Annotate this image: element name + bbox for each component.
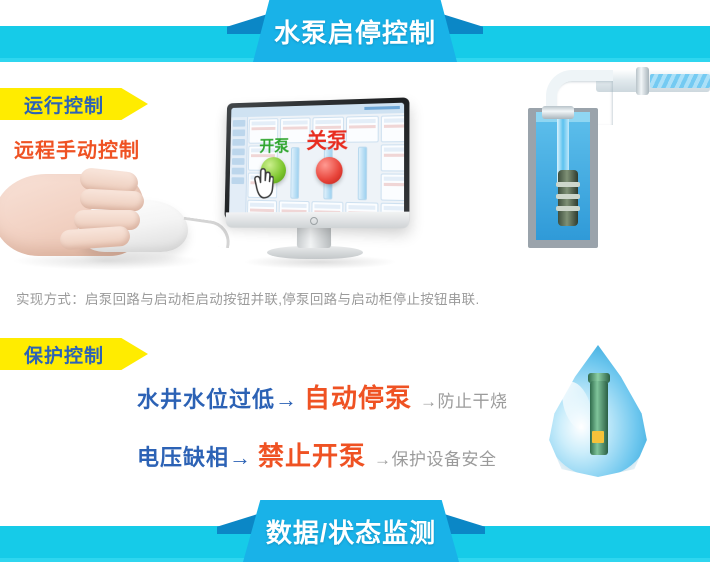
hand-cursor-icon [249, 167, 274, 200]
well-pump-illustration [500, 62, 710, 277]
rule-condition: 水井水位过低→ [137, 382, 298, 414]
scada-sidebar-item [233, 129, 246, 136]
finger-2 [80, 188, 145, 211]
pump-band [556, 182, 580, 187]
bottom-banner-title: 数据/状态监测 [266, 513, 436, 550]
rule-result: →保护设备安全 [374, 445, 497, 470]
monitor-screen[interactable]: 开泵 关泵 [229, 103, 404, 220]
top-banner-title: 水泵启停控制 [274, 13, 436, 50]
scada-pipe [290, 147, 299, 199]
droplet-pump-label [592, 431, 604, 443]
scada-sidebar [229, 117, 248, 215]
rule-action: 禁止开泵 [258, 436, 366, 473]
run-control-tag-label: 运行控制 [24, 91, 104, 118]
protection-control-tag: 保护控制 [0, 338, 148, 370]
rule-condition: 电压缺相→ [137, 440, 252, 472]
remote-manual-control-label: 远程手动控制 [14, 134, 140, 163]
droplet-pump-body [590, 381, 608, 455]
protection-control-tag-label: 保护控制 [24, 341, 104, 368]
monitor-illustration: 开泵 关泵 [205, 100, 420, 275]
pipe-flange-wellhead [542, 106, 574, 119]
monitor-frame: 开泵 关泵 [224, 97, 409, 225]
bottom-banner-ribbon: 数据/状态监测 [243, 500, 459, 562]
pump-band [556, 206, 580, 211]
scada-sidebar-item [232, 149, 245, 156]
pump-band [556, 194, 580, 199]
promo-page: 水泵启停控制 运行控制 远程手动控制 [0, 0, 710, 564]
bottom-banner: 数据/状态监测 [0, 500, 710, 564]
monitor-bezel-chin [226, 212, 410, 229]
water-droplet-illustration [540, 345, 660, 485]
protection-rule-row: 水井水位过低→ 自动停泵 →防止干烧 [137, 378, 508, 415]
protection-rule-row: 电压缺相→ 禁止开泵 →保护设备安全 [137, 436, 497, 473]
scada-pipe [358, 147, 368, 201]
scada-cell [381, 173, 405, 201]
hand-on-mouse-illustration [0, 168, 209, 278]
start-pump-label: 开泵 [259, 133, 289, 157]
implementation-note: 实现方式：启泵回路与启动柜启动按钮并联,停泵回路与启动柜停止按钮串联. [16, 288, 480, 308]
stop-pump-label: 关泵 [306, 125, 348, 156]
rule-action: 自动停泵 [304, 378, 412, 415]
discharge-pipe-water [650, 74, 710, 88]
scada-sidebar-item [232, 158, 245, 165]
run-control-tag: 运行控制 [0, 88, 148, 120]
pipe-flange-horizontal [636, 67, 649, 95]
top-banner: 水泵启停控制 [0, 0, 710, 64]
scada-sidebar-item [232, 168, 245, 175]
scada-cell [346, 116, 379, 143]
scada-sidebar-item [233, 120, 246, 127]
top-banner-ribbon: 水泵启停控制 [253, 0, 457, 62]
scada-cell [381, 144, 404, 171]
rule-result: →防止干烧 [420, 387, 508, 412]
scada-sidebar-item [232, 177, 245, 184]
scada-cell [381, 115, 404, 143]
scada-sidebar-item [232, 139, 245, 146]
